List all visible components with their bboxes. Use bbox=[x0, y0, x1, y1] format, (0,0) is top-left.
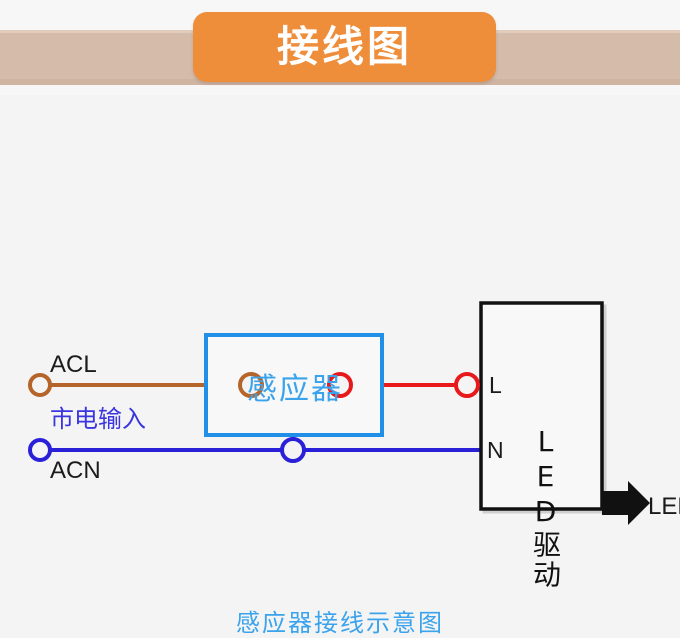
terminal-acl bbox=[30, 375, 50, 395]
terminal-driver-l bbox=[456, 374, 478, 396]
label-acl: ACL bbox=[50, 353, 97, 377]
page-title: 接线图 bbox=[277, 26, 412, 68]
terminal-acn bbox=[30, 440, 50, 460]
wiring-diagram: 感应器 ACL 市电输入 ACN L N LED驱动 LED 感应器接线示意图 bbox=[0, 95, 680, 616]
junction-neutral bbox=[282, 439, 304, 461]
label-led-output: LED bbox=[648, 495, 680, 519]
label-driver-l: L bbox=[489, 374, 502, 397]
diagram-caption: 感应器接线示意图 bbox=[0, 603, 680, 638]
label-mains-input: 市电输入 bbox=[50, 407, 146, 431]
label-driver-n: N bbox=[487, 439, 504, 462]
label-acn: ACN bbox=[50, 459, 101, 483]
sensor-box bbox=[206, 335, 382, 435]
wiring-diagram-svg bbox=[0, 95, 680, 616]
right-arrow-icon bbox=[602, 481, 650, 525]
led-driver-label: LED驱动 bbox=[525, 425, 565, 590]
page-title-pill: 接线图 bbox=[193, 12, 496, 82]
header-banner: 接线图 bbox=[0, 0, 680, 95]
junction-switched bbox=[329, 374, 351, 396]
junction-live bbox=[240, 374, 262, 396]
